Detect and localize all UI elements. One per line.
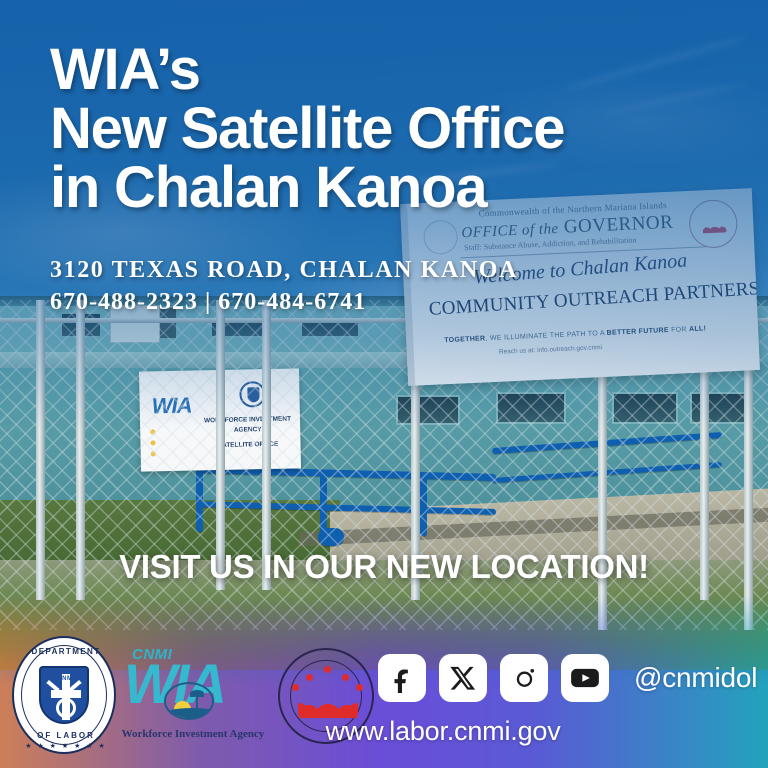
instagram-icon[interactable] [500, 654, 548, 702]
footer-bar: DEPARTMENT CNMI OF LABOR ★ ★ ★ ★ ★ ★ ★ C… [0, 632, 768, 768]
headline-line-3: in Chalan Kanoa [50, 158, 750, 217]
headline-line-1: WIA’s [50, 40, 750, 99]
website-url[interactable]: www.labor.cnmi.gov [0, 716, 768, 747]
lotus-petals-icon [298, 678, 358, 718]
headline-line-2: New Satellite Office [50, 99, 750, 158]
phone-line: 670-488-2323 | 670-484-6741 [50, 287, 518, 319]
youtube-icon[interactable] [561, 654, 609, 702]
call-to-action: VISIT US IN OUR NEW LOCATION! [0, 548, 768, 586]
palm-tree-icon [190, 690, 204, 708]
wia-island-scene-icon [164, 682, 214, 720]
poster-canvas: WIA WORKFORCE INVESTMENT AGENCY SATELLIT… [0, 0, 768, 768]
social-links: @cnmidol [378, 654, 757, 702]
address-line: 3120 TEXAS ROAD, CHALAN KANOA [50, 255, 518, 287]
x-twitter-icon[interactable] [439, 654, 487, 702]
ship-wheel-icon [56, 698, 76, 718]
facebook-icon[interactable] [378, 654, 426, 702]
headline: WIA’s New Satellite Office in Chalan Kan… [50, 40, 750, 217]
social-handle[interactable]: @cnmidol [634, 662, 757, 694]
contact-block: 3120 TEXAS ROAD, CHALAN KANOA 670-488-23… [50, 255, 518, 318]
seal-top-text: DEPARTMENT [14, 647, 118, 656]
